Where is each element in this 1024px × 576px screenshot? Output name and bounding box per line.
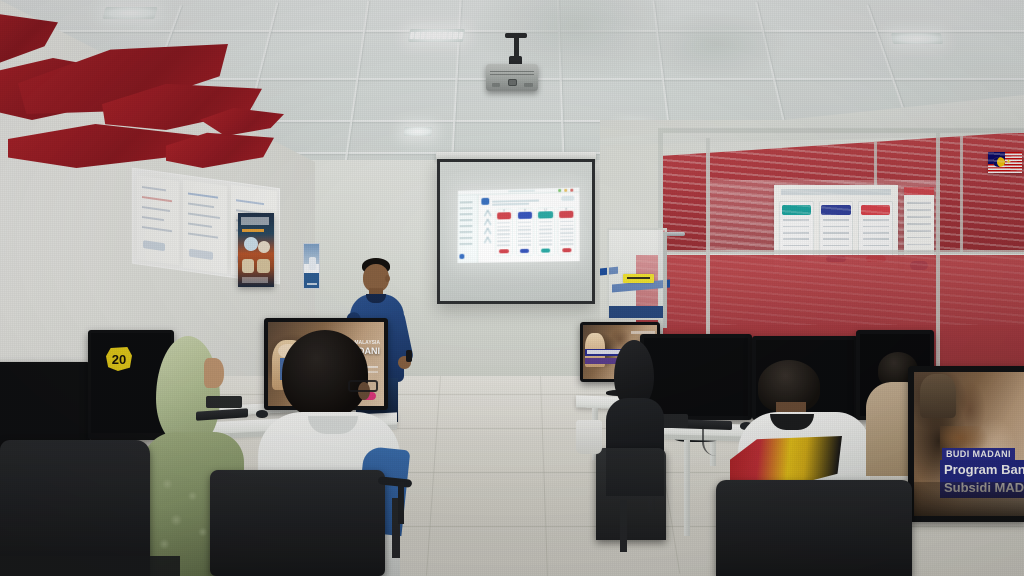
chair-left-1[interactable] (210, 470, 385, 576)
seat-number-text: 20 (112, 353, 126, 366)
projected-card-4 (557, 207, 576, 256)
ceiling-projector (486, 64, 538, 91)
photo-scene: ✦ (0, 0, 1024, 576)
projected-sidebar (457, 195, 478, 263)
projected-logo (561, 196, 575, 201)
participant-white-shirt-left-hair (282, 330, 368, 418)
projected-card-1 (495, 208, 513, 256)
presenter-remote[interactable] (406, 350, 412, 362)
projected-nav-block (482, 198, 489, 205)
chair-mid-right[interactable] (596, 448, 666, 540)
desk-clutter-left (206, 396, 242, 408)
poster-left-1 (137, 175, 179, 265)
hijab-dark (614, 340, 654, 406)
participant-white-shirt-left-glasses (348, 380, 378, 392)
chair-left-1-armrest-post (398, 482, 404, 524)
presenter-ear (385, 275, 390, 282)
projection-screen-frame (437, 159, 595, 304)
projector-mount-plate (505, 33, 527, 38)
projected-web-page (457, 187, 579, 263)
door-frame-post (663, 232, 667, 328)
monitor-right-kicker: BUDI MADANI (942, 448, 1015, 460)
foreground-divider-panel (0, 556, 180, 576)
chair-right-foreground[interactable] (716, 480, 912, 576)
monitor-right-main: Program Ban (944, 462, 1024, 477)
blue-service-poster (303, 243, 320, 289)
poster-left-2 (183, 180, 227, 274)
glass-door[interactable] (607, 228, 667, 320)
poster-left-4 (238, 213, 274, 287)
waste-bin (576, 420, 602, 454)
projected-card-3 (536, 207, 554, 256)
ceiling-light-mid-left (404, 127, 433, 136)
door-warning-sticker (623, 274, 654, 283)
participant-hijab-green-face (204, 358, 224, 388)
projected-card-2 (516, 208, 534, 257)
projector-mount-arm (514, 36, 519, 58)
projection-screen-surface (440, 162, 592, 301)
seat-number-sticker: 20 (106, 347, 132, 371)
hijab-green (156, 336, 220, 444)
ceiling-light-left-far (408, 29, 465, 42)
monitor-right-foreground[interactable]: BUDI MADANI Program Ban Subsidi MADA (908, 366, 1024, 522)
chair-mid-right-stem (620, 500, 627, 552)
mouse-left[interactable] (256, 410, 268, 418)
